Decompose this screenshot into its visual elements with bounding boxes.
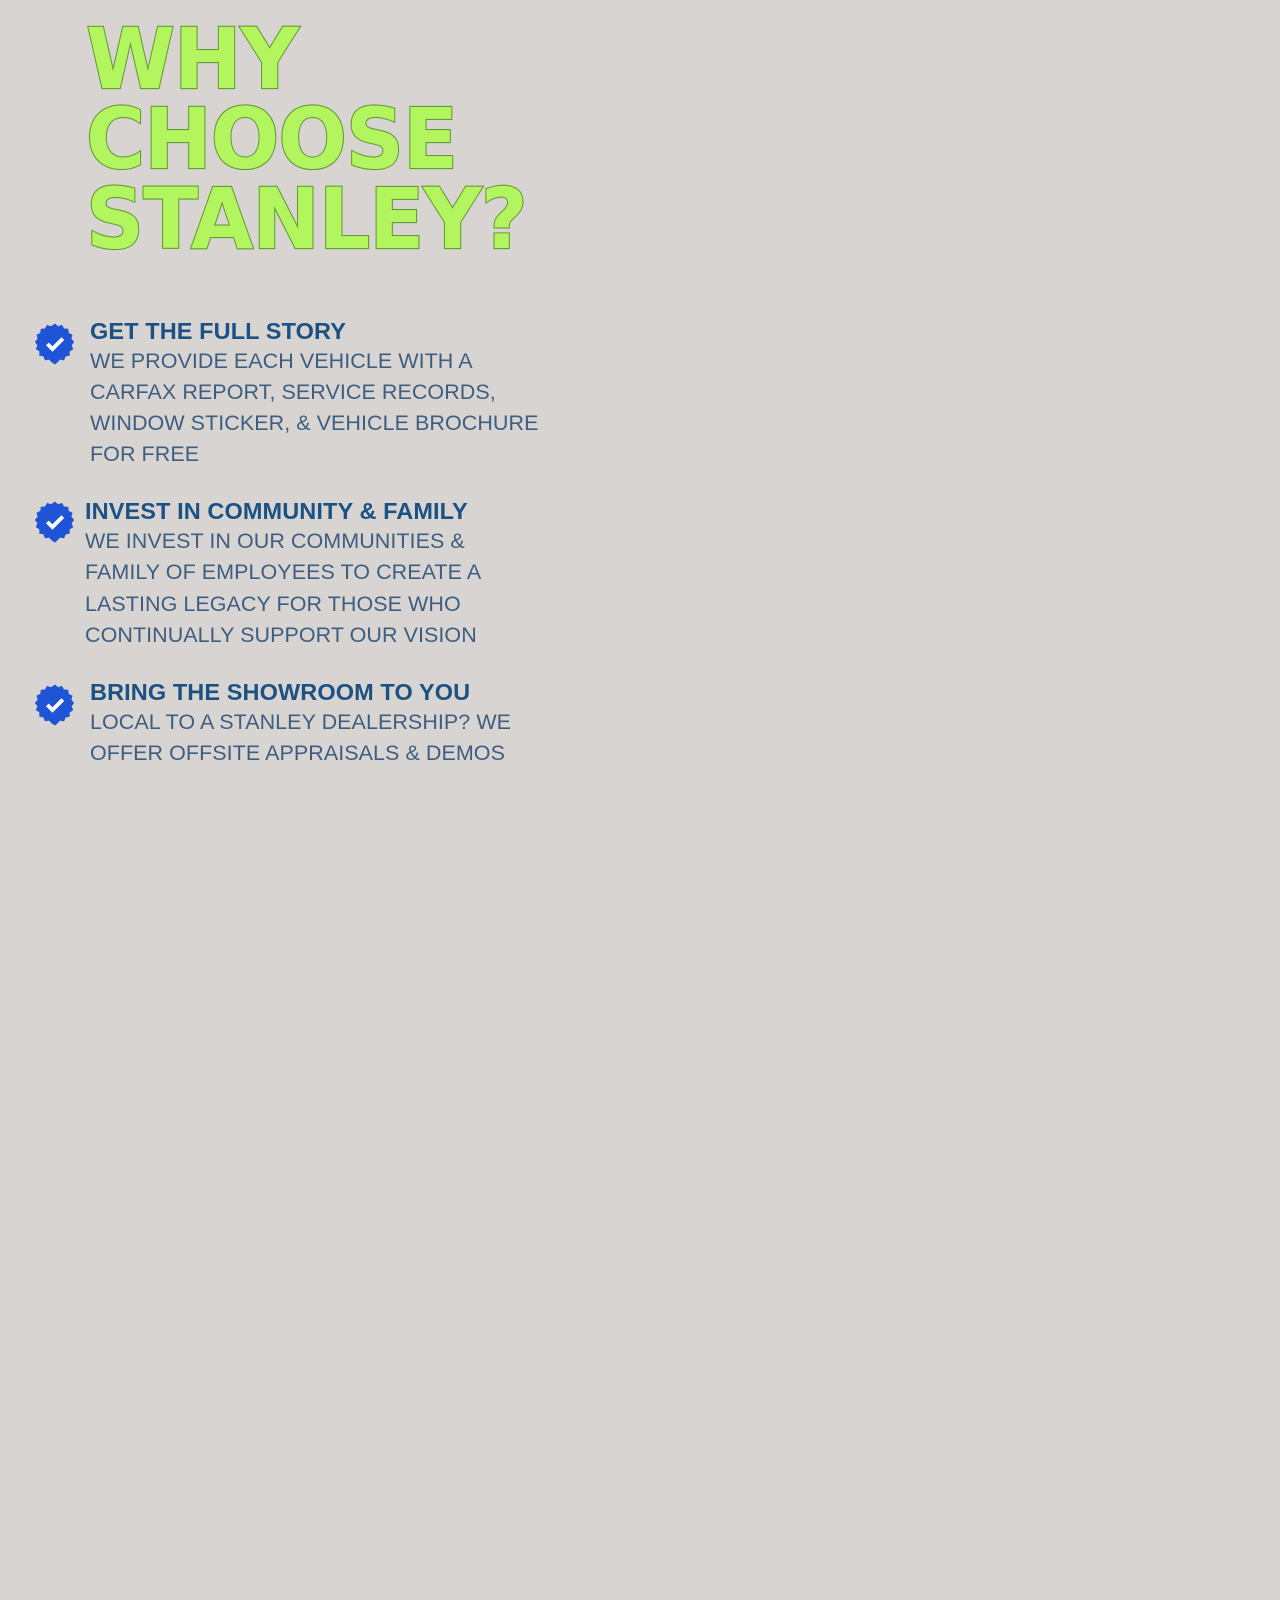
feature-text-block: PROTECT YOUR ASSETS OUR FINANCE PROFESSI… xyxy=(640,1303,1280,1600)
feature-item-protect-your-assets: PROTECT YOUR ASSETS OUR FINANCE PROFESSI… xyxy=(640,1303,1280,1600)
verified-check-badge-icon xyxy=(33,683,77,727)
feature-title: GET THE FULL STORY xyxy=(90,318,632,345)
feature-description: WE INVEST IN OUR COMMUNITIES & FAMILY OF… xyxy=(85,526,632,651)
feature-text-block: BRING THE SHOWROOM TO YOU LOCAL TO A STA… xyxy=(0,679,632,769)
feature-text-block: INVEST IN COMMUNITY & FAMILY WE INVEST I… xyxy=(0,498,632,650)
right-feature-list: NO HIDDEN DEALER FEES NO ADDENDUMS, ADD … xyxy=(640,28,1280,1600)
feature-item-get-the-full-story: GET THE FULL STORY WE PROVIDE EACH VEHIC… xyxy=(0,308,632,470)
feature-text-block: QUICK FINANCING APPROVALS WITH COMPETITI… xyxy=(640,757,1280,1275)
feature-title: INVEST IN COMMUNITY & FAMILY xyxy=(85,498,632,525)
feature-title: BRING THE SHOWROOM TO YOU xyxy=(90,679,632,706)
verified-check-badge-icon xyxy=(33,500,77,544)
feature-item-quick-financing-approvals: QUICK FINANCING APPROVALS WITH COMPETITI… xyxy=(640,757,1280,1275)
feature-text-block: NO HIDDEN DEALER FEES NO ADDENDUMS, ADD … xyxy=(640,28,1280,448)
poster-canvas: WHY CHOOSE STANLEY? GET THE FULL STORY W… xyxy=(0,0,1280,800)
feature-description: WE PROVIDE EACH VEHICLE WITH A CARFAX RE… xyxy=(90,346,632,471)
feature-item-no-hidden-dealer-fees: NO HIDDEN DEALER FEES NO ADDENDUMS, ADD … xyxy=(640,28,1280,448)
feature-text-block: NATIONWIDE SHIPPING $1* PER MILE *MINIMU… xyxy=(640,474,1280,734)
verified-check-badge-icon xyxy=(33,322,77,366)
feature-item-nationwide-shipping: NATIONWIDE SHIPPING $1* PER MILE *MINIMU… xyxy=(640,474,1280,734)
page-title: WHY CHOOSE STANLEY? xyxy=(86,20,585,259)
feature-item-invest-in-community-and-family: INVEST IN COMMUNITY & FAMILY WE INVEST I… xyxy=(0,498,632,650)
feature-text-block: GET THE FULL STORY WE PROVIDE EACH VEHIC… xyxy=(0,308,632,470)
feature-description: LOCAL TO A STANLEY DEALERSHIP? WE OFFER … xyxy=(90,707,632,769)
left-feature-list: GET THE FULL STORY WE PROVIDE EACH VEHIC… xyxy=(0,308,632,791)
feature-item-bring-the-showroom-to-you: BRING THE SHOWROOM TO YOU LOCAL TO A STA… xyxy=(0,679,632,769)
